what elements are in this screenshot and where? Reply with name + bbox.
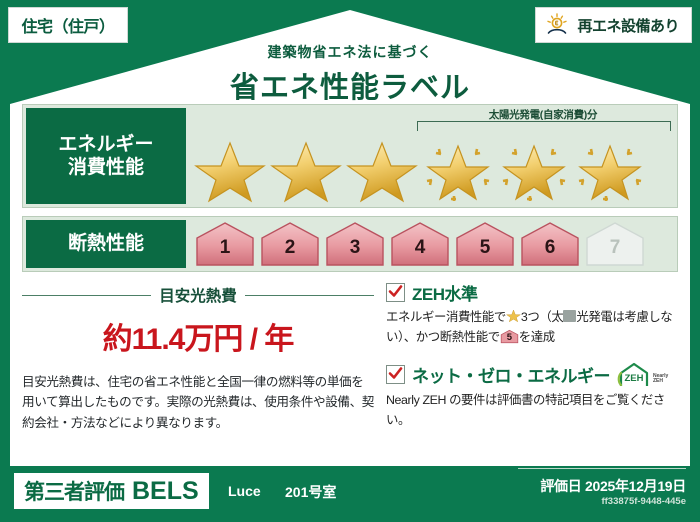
insulation-performance-row: 断熱性能 1 2 (22, 216, 678, 272)
energy-performance-row: エネルギー 消費性能 太陽光発電(自家消費)分 (22, 104, 678, 208)
house-level-icon: 5 (453, 220, 517, 268)
evaluation-id: ff33875f-9448-445e (601, 496, 686, 507)
utility-cost-heading-text: 目安光熱費 (159, 284, 237, 306)
room-number: 201号室 (285, 482, 336, 502)
house-level-icon: 1 (193, 220, 257, 268)
zeh-standard-header: ZEH水準 (386, 280, 678, 305)
rule-right (245, 295, 374, 296)
zeh-standard-body: エネルギー消費性能で3つ（太光発電は考慮しない）、かつ断熱性能で5を達成 (386, 308, 678, 348)
building-name: Luce (228, 483, 261, 499)
lower-section: 目安光熱費 約11.4万円 / 年 目安光熱費は、住宅の省エネ性能と全国一律の燃… (22, 280, 678, 433)
net-zero-energy-block: ネット・ゼロ・エネルギー ZEH Nearly ZEH Nearly ZE (386, 362, 678, 431)
svg-text:ZEH: ZEH (625, 373, 644, 384)
house-level-number: 2 (258, 237, 322, 259)
star-icon-solar (421, 137, 495, 203)
title-main: 省エネ性能ラベル (0, 64, 700, 106)
house-level-number: 6 (518, 237, 582, 259)
star-icon-solar (497, 137, 571, 203)
bels-energy-label: { "header": { "house_tag": "住宅（住戸）", "re… (0, 0, 700, 522)
net-zero-energy-body: Nearly ZEH の要件は評価書の特記項目をご覧ください。 (386, 391, 678, 431)
zeh-standard-title: ZEH水準 (412, 280, 478, 305)
zeh-panel: ZEH水準 エネルギー消費性能で3つ（太光発電は考慮しない）、かつ断熱性能で5を… (374, 280, 678, 433)
house-level-number: 1 (193, 237, 257, 259)
rule-left (22, 295, 151, 296)
insulation-performance-label: 断熱性能 (26, 220, 186, 268)
renewable-equipment-badge: 再エネ設備あり (535, 7, 692, 43)
zeh-body-part-a: エネルギー消費性能で (386, 310, 506, 324)
insulation-performance-body: 1 2 3 4 (189, 217, 677, 271)
solar-bracket (417, 121, 671, 131)
inline-house-level-number: 5 (500, 330, 519, 345)
inline-house-level-icon: 5 (500, 329, 519, 344)
zeh-tag-line2: ZEH (653, 378, 663, 384)
star-icon (193, 137, 267, 203)
house-level-number: 3 (323, 237, 387, 259)
bels-en-label: BELS (132, 477, 199, 506)
net-zero-energy-header: ネット・ゼロ・エネルギー ZEH Nearly ZEH (386, 362, 678, 388)
energy-label-line2: 消費性能 (68, 156, 144, 179)
insulation-label-text: 断熱性能 (68, 232, 144, 255)
energy-label-line1: エネルギー (58, 133, 153, 156)
energy-performance-label: エネルギー 消費性能 (26, 108, 186, 204)
zeh-body-part-c: を達成 (519, 330, 555, 344)
footer-divider (518, 468, 686, 469)
house-level-icon: 4 (388, 220, 452, 268)
utility-cost-heading: 目安光熱費 (22, 284, 374, 306)
label-content: エネルギー 消費性能 太陽光発電(自家消費)分 (22, 104, 678, 433)
house-type-tag: 住宅（住戸） (8, 7, 128, 43)
house-level-number: 7 (583, 237, 647, 259)
inline-star-icon (506, 310, 521, 324)
title-subtitle: 建築物省エネ法に基づく (0, 42, 700, 62)
evaluation-date: 評価日 2025年12月19日 (540, 476, 686, 496)
solar-generation-note: 太陽光発電(自家消費)分 (413, 107, 673, 122)
redacted-character (563, 310, 576, 322)
house-level-icon-achieved: 6 (518, 220, 582, 268)
house-level-icon: 3 (323, 220, 387, 268)
utility-cost-description: 目安光熱費は、住宅の省エネ性能と全国一律の燃料等の単価を用いて算出したものです。… (22, 372, 374, 433)
zeh-logo: ZEH Nearly ZEH (617, 362, 668, 388)
checkmark-icon (386, 365, 405, 384)
zeh-standard-block: ZEH水準 エネルギー消費性能で3つ（太光発電は考慮しない）、かつ断熱性能で5を… (386, 280, 678, 348)
bels-jp-label: 第三者評価 (24, 476, 124, 506)
checkmark-icon (386, 283, 405, 302)
zeh-body-star-count: 3つ（太 (521, 310, 563, 324)
energy-performance-body: 太陽光発電(自家消費)分 (189, 105, 677, 207)
bels-certification-mark: 第三者評価 BELS (14, 473, 209, 509)
sun-solar-icon (544, 13, 570, 37)
house-level-number: 4 (388, 237, 452, 259)
house-level-icon-inactive: 7 (583, 220, 647, 268)
house-type-label: 住宅（住戸） (21, 13, 114, 37)
renewable-badge-label: 再エネ設備あり (577, 15, 679, 36)
house-level-number: 5 (453, 237, 517, 259)
label-footer: 第三者評価 BELS Luce 201号室 評価日 2025年12月19日 ff… (0, 464, 700, 522)
star-icon-solar (573, 137, 647, 203)
star-icon (269, 137, 343, 203)
utility-cost-panel: 目安光熱費 約11.4万円 / 年 目安光熱費は、住宅の省エネ性能と全国一律の燃… (22, 280, 374, 433)
utility-cost-value: 約11.4万円 / 年 (22, 314, 374, 358)
insulation-level-scale: 1 2 3 4 (189, 217, 677, 271)
star-icon (345, 137, 419, 203)
label-title: 建築物省エネ法に基づく 省エネ性能ラベル (0, 42, 700, 106)
zeh-logo-tag: Nearly ZEH (653, 374, 668, 388)
net-zero-energy-title: ネット・ゼロ・エネルギー (412, 362, 610, 387)
house-level-icon: 2 (258, 220, 322, 268)
